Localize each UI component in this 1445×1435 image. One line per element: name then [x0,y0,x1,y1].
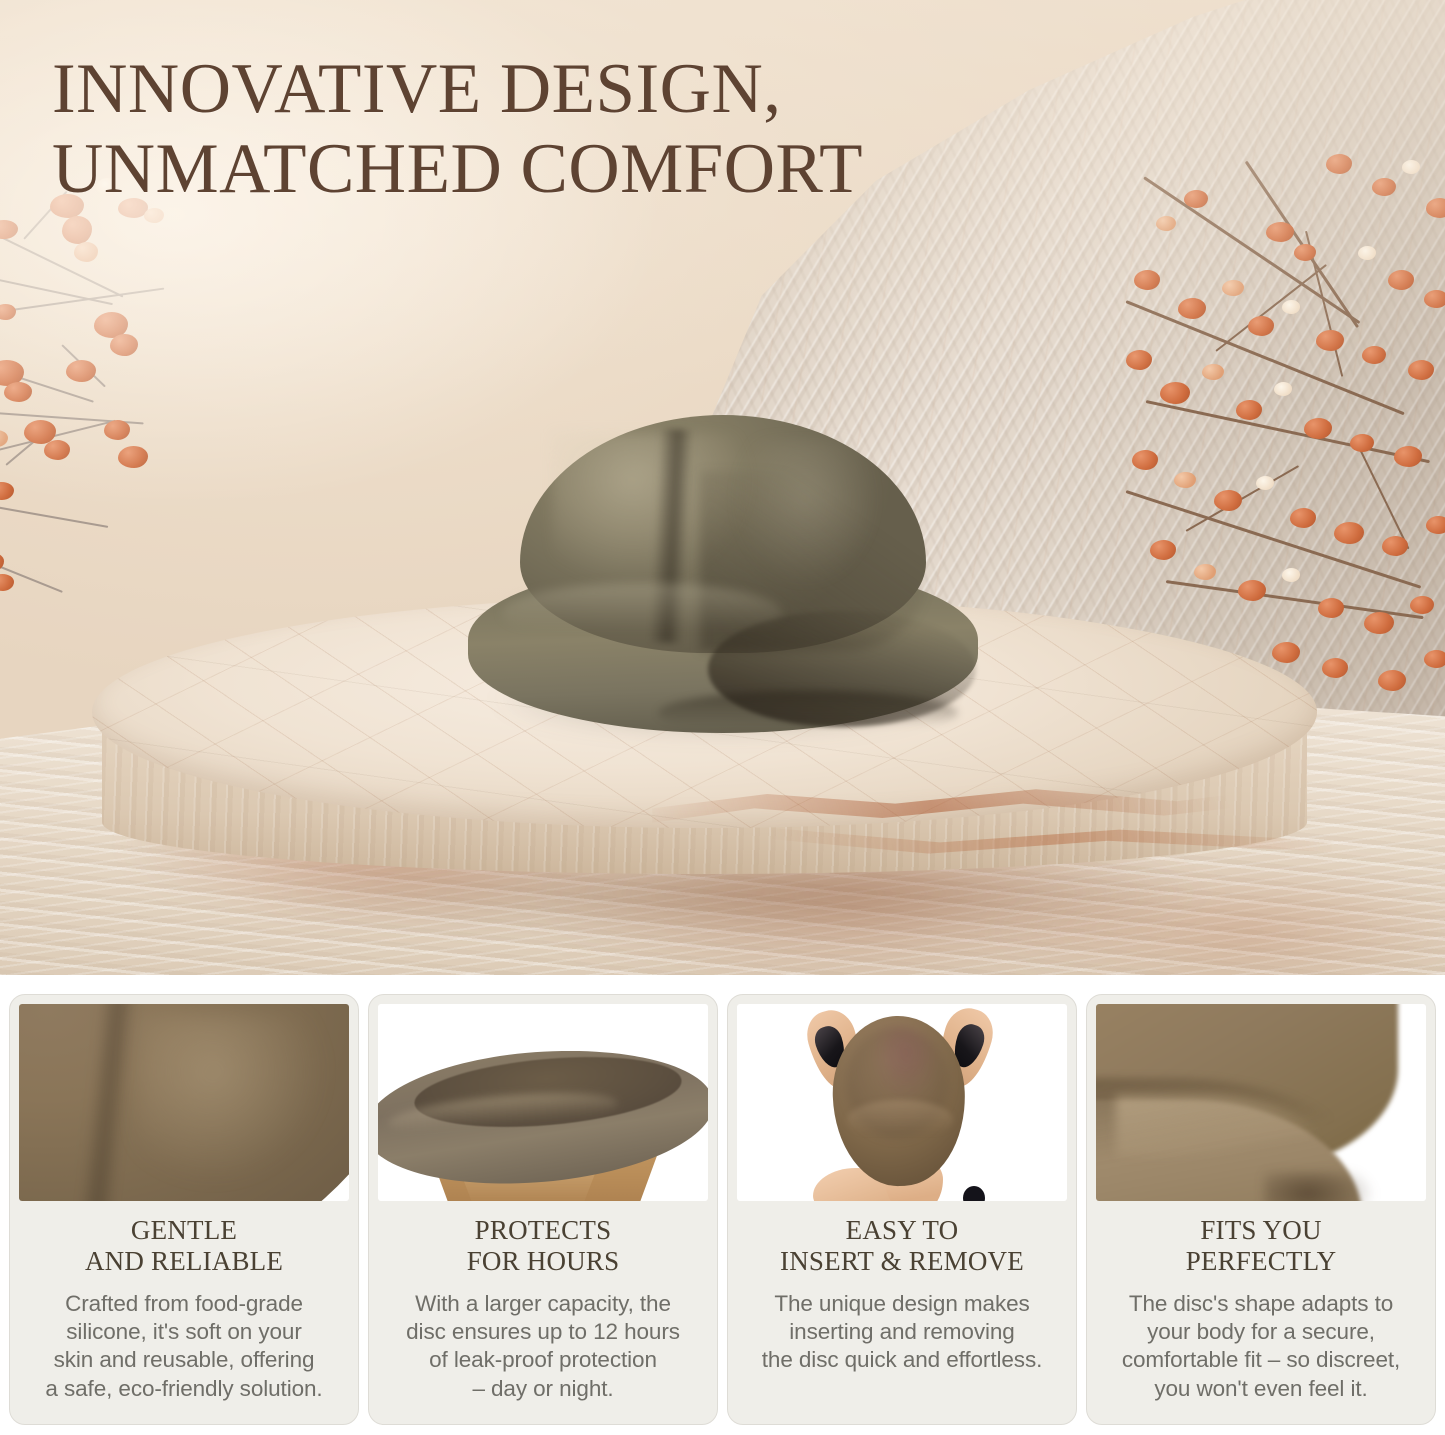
feature-card-protects-for-hours: PROTECTS FOR HOURS With a larger capacit… [368,994,718,1425]
card-body: With a larger capacity, the disc ensures… [406,1290,680,1403]
page-title: INNOVATIVE DESIGN, UNMATCHED COMFORT [52,50,1102,209]
disc-fold [847,1100,953,1140]
fingernail-icon [963,1186,985,1201]
feature-card-row: GENTLE AND RELIABLE Crafted from food-gr… [0,975,1445,1435]
hero-section: INNOVATIVE DESIGN, UNMATCHED COMFORT [0,0,1445,975]
feature-card-fits-you-perfectly: FITS YOU PERFECTLY The disc's shape adap… [1086,994,1436,1425]
card-title: FITS YOU PERFECTLY [1186,1215,1337,1278]
disc-surface-macro-image [19,1004,349,1201]
menstrual-disc-product [468,415,978,745]
product-marketing-poster: INNOVATIVE DESIGN, UNMATCHED COMFORT GEN… [0,0,1445,1435]
disc-side-profile-image [378,1004,708,1201]
disc-surface-highlight [137,1014,327,1184]
disc-rim-shadow [1264,1172,1374,1201]
card-body: Crafted from food-grade silicone, it's s… [45,1290,322,1403]
card-title: PROTECTS FOR HOURS [467,1215,620,1278]
product-underside-shadow [658,691,958,735]
hand-holding-disc-image [737,1004,1067,1201]
card-body: The disc's shape adapts to your body for… [1122,1290,1400,1403]
card-title: EASY TO INSERT & REMOVE [780,1215,1024,1278]
dried-flowers-left [0,164,216,664]
card-body: The unique design makes inserting and re… [762,1290,1043,1375]
disc-rim-macro-image [1096,1004,1426,1201]
card-title: GENTLE AND RELIABLE [85,1215,283,1278]
feature-card-gentle-and-reliable: GENTLE AND RELIABLE Crafted from food-gr… [9,994,359,1425]
feature-card-easy-to-insert-and-remove: EASY TO INSERT & REMOVE The unique desig… [727,994,1077,1425]
